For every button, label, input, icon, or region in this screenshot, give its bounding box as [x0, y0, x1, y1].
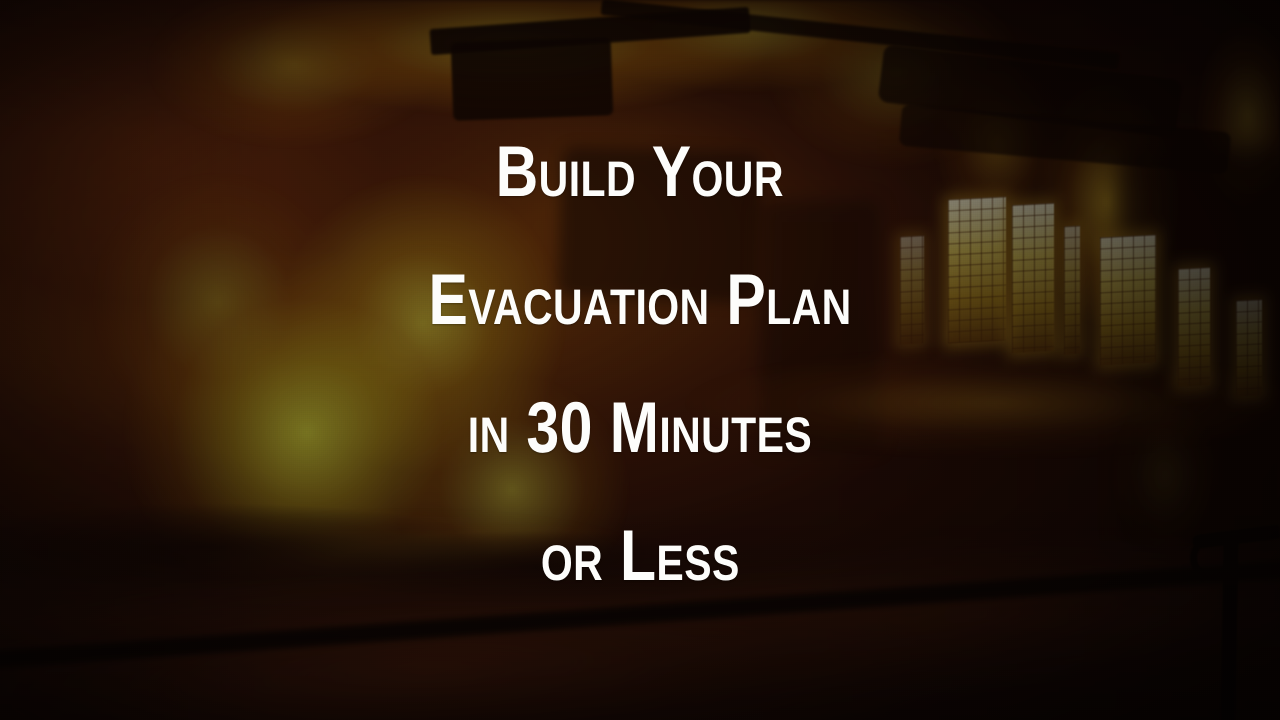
evacuation-plan-hero-banner: Build Your Evacuation Plan in 30 Minutes… — [0, 0, 1280, 720]
headline-line-3: in 30 Minutes — [468, 364, 812, 492]
headline-line-2: Evacuation Plan — [428, 236, 851, 364]
headline-line-1: Build Your — [496, 108, 784, 236]
headline-block: Build Your Evacuation Plan in 30 Minutes… — [0, 0, 1280, 720]
headline-line-4: or Less — [541, 492, 740, 620]
